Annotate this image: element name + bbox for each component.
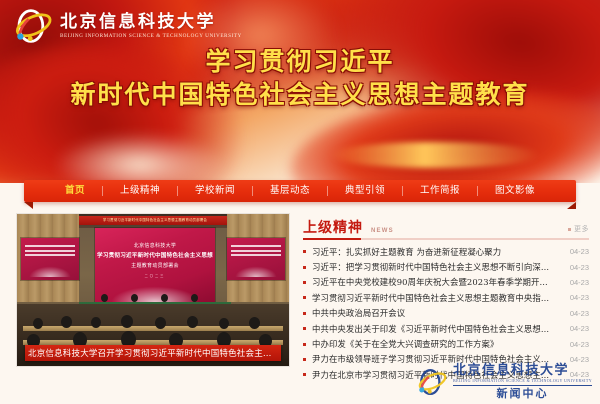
- attendee-head: [61, 316, 72, 328]
- banner-headline: 学习贯彻习近平 新时代中国特色社会主义思想主题教育: [0, 48, 600, 108]
- news-list-item[interactable]: 习近平：把学习贯彻新时代中国特色社会主义思想不断引向深... 04-23: [303, 259, 589, 274]
- hall-overhead-banner: 学习贯彻习近平新时代中国特色社会主义思想主题教育动员部署会: [73, 216, 237, 225]
- audience-desk: [23, 326, 283, 331]
- hall-overhead-banner-text: 学习贯彻习近平新时代中国特色社会主义思想主题教育动员部署会: [73, 216, 237, 225]
- news-item-date: 04-23: [559, 370, 589, 379]
- site-logo[interactable]: 北京信息科技大学 Beijing Information Science & T…: [12, 6, 242, 46]
- nav-item-work-briefing[interactable]: 工作简报: [403, 180, 477, 202]
- university-emblem-icon: [12, 6, 54, 46]
- news-more-label: 更多: [574, 224, 589, 234]
- side-screen-left: [21, 238, 79, 280]
- news-item-title: 尹力在市级领导班子学习贯彻习近平新时代中国特色社会主义...: [312, 353, 551, 365]
- attendee-head: [249, 317, 260, 329]
- speaker-head: [191, 294, 198, 302]
- attendee-head: [33, 318, 43, 329]
- nav-item-model-leadership[interactable]: 典型引领: [328, 180, 402, 202]
- news-list-item[interactable]: 中办印发《关于在全党大兴调查研究的工作方案》 04-23: [303, 336, 589, 351]
- news-list-item[interactable]: 习近平在中央党校建校90周年庆祝大会暨2023年春季学期开... 04-23: [303, 275, 589, 290]
- banner-headline-line1: 学习贯彻习近平: [0, 48, 600, 75]
- bullet-icon: [303, 281, 306, 284]
- content-area: 学习贯彻习近平新时代中国特色社会主义思想主题教育动员部署会 北京信息科技大学 学…: [0, 204, 600, 404]
- news-list-item[interactable]: 尹力在市级领导班子学习贯彻习近平新时代中国特色社会主义... 04-23: [303, 352, 589, 367]
- bullet-icon: [303, 296, 306, 299]
- bullet-icon: [303, 373, 306, 376]
- news-panel-title: 上级精神: [303, 220, 363, 236]
- ribbon-glow-icon: [20, 120, 260, 183]
- feature-caption[interactable]: 北京信息科技大学召开学习贯彻习近平新时代中国特色社会主义思想主题教育...: [25, 345, 281, 361]
- news-list-item[interactable]: 中共中央发出关于印发《习近平新时代中国特色社会主义思想... 04-23: [303, 321, 589, 336]
- news-panel-subtitle: NEWS: [371, 228, 394, 234]
- news-item-title: 学习贯彻习近平新时代中国特色社会主义思想主题教育中央指...: [312, 292, 551, 304]
- news-list-item[interactable]: 习近平：扎实抓好主题教育 为奋进新征程凝心聚力 04-23: [303, 244, 589, 259]
- bullet-icon: [303, 250, 306, 253]
- news-item-title: 尹力在北京市学习贯彻习近平新时代中国特色社会主义思想主...: [312, 369, 551, 381]
- side-screen-right: [227, 238, 285, 280]
- news-item-title: 中共中央政治局召开会议: [312, 307, 551, 319]
- news-item-title: 中共中央发出关于印发《习近平新时代中国特色社会主义思想...: [312, 323, 551, 335]
- site-logo-name-cn: 北京信息科技大学: [60, 12, 242, 32]
- news-item-title: 习近平：扎实抓好主题教育 为奋进新征程凝心聚力: [312, 246, 551, 258]
- bullet-icon: [303, 358, 306, 361]
- news-item-date: 04-23: [559, 293, 589, 302]
- news-list-item[interactable]: 学习贯彻习近平新时代中国特色社会主义思想主题教育中央指... 04-23: [303, 290, 589, 305]
- site-logo-text: 北京信息科技大学 Beijing Information Science & T…: [60, 12, 242, 40]
- attendee-head: [155, 317, 166, 329]
- speaker-head: [131, 294, 138, 302]
- news-item-date: 04-23: [559, 340, 589, 349]
- stage-led-screen: 北京信息科技大学 学习贯彻习近平新时代中国特色社会主义思想 主题教育动员部署会 …: [95, 228, 215, 302]
- nav-item-school-news[interactable]: 学校新闻: [178, 180, 252, 202]
- news-item-title: 习近平在中央党校建校90周年庆祝大会暨2023年春季学期开...: [312, 276, 551, 288]
- feature-caption-text: 北京信息科技大学召开学习贯彻习近平新时代中国特色社会主义思想主题教育...: [28, 347, 278, 359]
- news-list: 习近平：扎实抓好主题教育 为奋进新征程凝心聚力 04-23 习近平：把学习贯彻新…: [303, 244, 589, 383]
- nav-item-grassroots-updates[interactable]: 基层动态: [253, 180, 327, 202]
- speaker-head: [161, 294, 168, 302]
- news-more-link[interactable]: 更多: [568, 224, 589, 234]
- more-bullet-icon: [568, 228, 571, 231]
- news-item-date: 04-23: [559, 263, 589, 272]
- banner-headline-line2: 新时代中国特色社会主义思想主题教育: [0, 81, 600, 108]
- site-logo-name-en: Beijing Information Science & Technology…: [60, 32, 242, 40]
- news-item-date: 04-23: [559, 324, 589, 333]
- bullet-icon: [303, 327, 306, 330]
- nav-item-photo-video[interactable]: 图文影像: [478, 180, 552, 202]
- bullet-icon: [303, 343, 306, 346]
- news-panel-header: 上级精神 NEWS 更多: [303, 214, 589, 236]
- news-item-title: 中办印发《关于在全党大兴调查研究的工作方案》: [312, 338, 551, 350]
- hero-banner: 北京信息科技大学 Beijing Information Science & T…: [0, 0, 600, 183]
- attendee-head: [187, 316, 198, 328]
- news-item-date: 04-23: [559, 278, 589, 287]
- nav-item-home[interactable]: 首页: [48, 180, 102, 202]
- stage-screen-line1: 北京信息科技大学: [95, 242, 215, 249]
- stage-screen-line2: 学习贯彻习近平新时代中国特色社会主义思想: [95, 251, 215, 259]
- attendee-head: [219, 318, 229, 329]
- news-header-underline: [303, 238, 589, 240]
- bullet-icon: [303, 312, 306, 315]
- news-item-date: 04-23: [559, 309, 589, 318]
- stage-screen-date: 二〇二三: [95, 273, 215, 278]
- conference-photo: 学习贯彻习近平新时代中国特色社会主义思想主题教育动员部署会 北京信息科技大学 学…: [17, 214, 289, 366]
- speaker-head: [101, 294, 108, 302]
- news-item-title: 习近平：把学习贯彻新时代中国特色社会主义思想不断引向深...: [312, 261, 551, 273]
- ribbon-highlight-icon: [330, 142, 540, 168]
- news-panel: 上级精神 NEWS 更多 习近平：扎实抓好主题教育 为奋进新征程凝心聚力 04-…: [303, 214, 589, 383]
- attendee-head: [121, 315, 133, 328]
- nav-item-superior-spirit[interactable]: 上级精神: [103, 180, 177, 202]
- news-list-item[interactable]: 尹力在北京市学习贯彻习近平新时代中国特色社会主义思想主... 04-23: [303, 367, 589, 382]
- attendee-head: [91, 317, 101, 328]
- stage-screen-line3: 主题教育动员部署会: [95, 262, 215, 269]
- main-navigation: 首页 上级精神 学校新闻 基层动态 典型引领 工作简报 图文影像: [24, 180, 576, 202]
- page-root: 北京信息科技大学 Beijing Information Science & T…: [0, 0, 600, 404]
- news-list-item[interactable]: 中共中央政治局召开会议 04-23: [303, 306, 589, 321]
- feature-photo-card[interactable]: 学习贯彻习近平新时代中国特色社会主义思想主题教育动员部署会 北京信息科技大学 学…: [17, 214, 289, 366]
- bullet-icon: [303, 266, 306, 269]
- news-item-date: 04-23: [559, 247, 589, 256]
- news-item-date: 04-23: [559, 355, 589, 364]
